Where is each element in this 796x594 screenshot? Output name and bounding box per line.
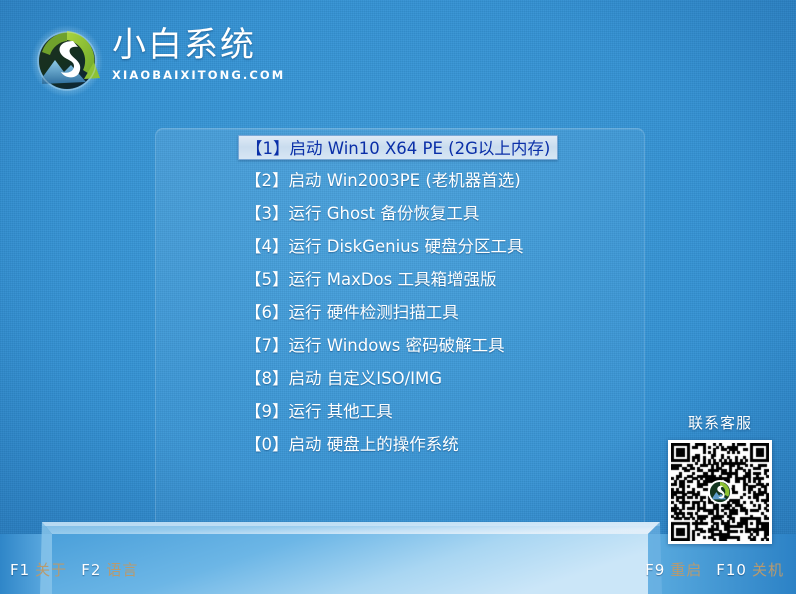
contact-label: 联系客服 — [665, 412, 775, 433]
boot-menu-item-2[interactable]: 【2】启动 Win2003PE (老机器首选) — [238, 168, 528, 193]
boot-menu-screen: 小白系统 XIAOBAIXITONG.COM 【1】启动 Win10 X64 P… — [0, 0, 796, 594]
qr-code-icon[interactable] — [668, 440, 772, 544]
brand-name-en: XIAOBAIXITONG.COM — [112, 67, 277, 83]
boot-menu-list[interactable]: 【1】启动 Win10 X64 PE (2G以上内存)【2】启动 Win2003… — [238, 135, 558, 465]
brand-name-cn: 小白系统 — [112, 24, 277, 66]
contact-support-block: 联系客服 — [665, 412, 775, 544]
footer-hints-left: F1关于F2语言 — [10, 559, 138, 580]
boot-menu-item-5[interactable]: 【5】运行 MaxDos 工具箱增强版 — [238, 267, 504, 292]
footer-label-f9: 重启 — [670, 561, 702, 579]
boot-menu-item-8[interactable]: 【8】启动 自定义ISO/IMG — [238, 366, 449, 391]
footer-hints-right: F9重启F10关机 — [645, 559, 784, 580]
brand-wordmark: 小白系统 XIAOBAIXITONG.COM — [112, 24, 277, 83]
boot-menu-item-7[interactable]: 【7】运行 Windows 密码破解工具 — [238, 333, 512, 358]
footer-label-f2: 语言 — [106, 561, 138, 579]
xiaobai-circle-logo-icon — [28, 22, 106, 100]
boot-menu-item-4[interactable]: 【4】运行 DiskGenius 硬盘分区工具 — [238, 234, 530, 259]
boot-menu-item-3[interactable]: 【3】运行 Ghost 备份恢复工具 — [238, 201, 486, 226]
boot-menu-item-9[interactable]: 【9】运行 其他工具 — [238, 399, 400, 424]
footer-label-f1: 关于 — [35, 561, 67, 579]
boot-menu-item-1[interactable]: 【1】启动 Win10 X64 PE (2G以上内存) — [238, 135, 558, 160]
footer-key-f1: F1 — [10, 561, 30, 579]
boot-menu-item-6[interactable]: 【6】运行 硬件检测扫描工具 — [238, 300, 466, 325]
footer-key-f9: F9 — [645, 561, 665, 579]
xiaobai-circle-logo-icon — [708, 480, 732, 504]
boot-menu-item-0[interactable]: 【0】启动 硬盘上的操作系统 — [238, 432, 466, 457]
footer-label-f10: 关机 — [752, 561, 784, 579]
brand-logo: 小白系统 XIAOBAIXITONG.COM — [28, 20, 278, 104]
footer-key-f10: F10 — [716, 561, 747, 579]
footer-key-f2: F2 — [81, 561, 101, 579]
